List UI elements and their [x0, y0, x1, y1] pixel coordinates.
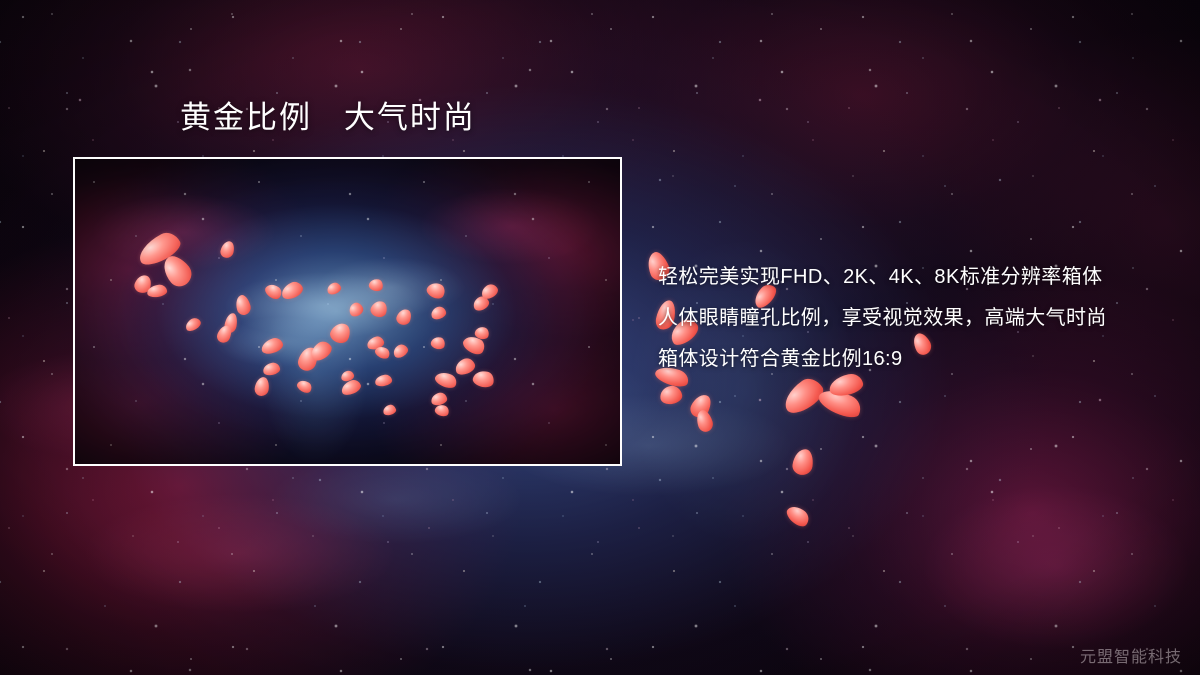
- petal-decoration: [433, 369, 459, 390]
- petal-decoration: [133, 273, 154, 295]
- body-text-line: 箱体设计符合黄金比例16:9: [658, 339, 1163, 380]
- body-text-block: 轻松完美实现FHD、2K、4K、8K标准分辨率箱体 人体眼睛瞳孔比例，享受视觉效…: [658, 257, 1163, 380]
- petal-decoration: [784, 502, 813, 530]
- framed-image-nebula-wisps: [75, 159, 620, 464]
- watermark: 元盟智能科技: [1080, 643, 1182, 667]
- petal-decoration: [369, 299, 389, 319]
- body-text-line: 人体眼睛瞳孔比例，享受视觉效果，高端大气时尚: [658, 298, 1163, 339]
- framed-image-petal-group: [75, 159, 620, 464]
- petal-decoration: [374, 374, 393, 388]
- petal-decoration: [791, 448, 814, 477]
- petal-decoration: [254, 376, 271, 397]
- petal-decoration: [778, 373, 827, 418]
- petal-decoration: [373, 344, 391, 361]
- petal-decoration: [460, 333, 487, 358]
- petal-decoration: [307, 338, 334, 364]
- petal-decoration: [259, 336, 284, 356]
- petal-decoration: [391, 342, 410, 360]
- petal-decoration: [215, 323, 234, 345]
- petal-decoration: [234, 293, 253, 316]
- petal-decoration: [479, 282, 500, 301]
- petal-decoration: [366, 335, 386, 351]
- petal-decoration: [146, 284, 167, 299]
- petal-decoration: [453, 356, 477, 377]
- petal-decoration: [134, 228, 184, 270]
- petal-decoration: [474, 325, 491, 340]
- petal-decoration: [326, 281, 343, 296]
- petal-decoration: [430, 335, 446, 350]
- framed-image: [73, 157, 622, 466]
- petal-decoration: [659, 384, 684, 406]
- petal-decoration: [219, 240, 236, 260]
- petal-decoration: [340, 370, 355, 383]
- page-title: 黄金比例 大气时尚: [180, 101, 476, 135]
- framed-image-vignette: [75, 159, 620, 464]
- petal-decoration: [425, 280, 448, 301]
- petal-decoration: [328, 320, 353, 346]
- framed-image-starfield: [75, 159, 620, 464]
- petal-decoration: [471, 294, 491, 312]
- petal-decoration: [262, 361, 281, 376]
- petal-decoration: [815, 384, 864, 422]
- slide-root: 黄金比例 大气时尚 轻松完美实现FHD、2K、4K、8K标准分辨率箱体 人体眼睛…: [0, 0, 1200, 675]
- petal-decoration: [158, 251, 197, 291]
- petal-decoration: [688, 391, 715, 420]
- petal-decoration: [296, 345, 320, 373]
- petal-decoration: [472, 369, 496, 389]
- body-text-line: 轻松完美实现FHD、2K、4K、8K标准分辨率箱体: [658, 257, 1163, 298]
- petal-decoration: [279, 279, 305, 302]
- petal-decoration: [430, 391, 448, 407]
- petal-decoration: [295, 378, 313, 395]
- petal-decoration: [339, 378, 362, 398]
- petal-decoration: [263, 281, 284, 302]
- petal-decoration: [430, 305, 448, 321]
- petal-decoration: [368, 278, 384, 293]
- framed-image-nebula-base: [75, 159, 620, 464]
- petal-decoration: [694, 408, 715, 434]
- petal-decoration: [395, 307, 414, 327]
- petal-decoration: [347, 301, 365, 319]
- petal-decoration: [183, 316, 202, 334]
- petal-decoration: [382, 403, 397, 416]
- petal-decoration: [434, 403, 451, 418]
- petal-decoration: [223, 312, 238, 334]
